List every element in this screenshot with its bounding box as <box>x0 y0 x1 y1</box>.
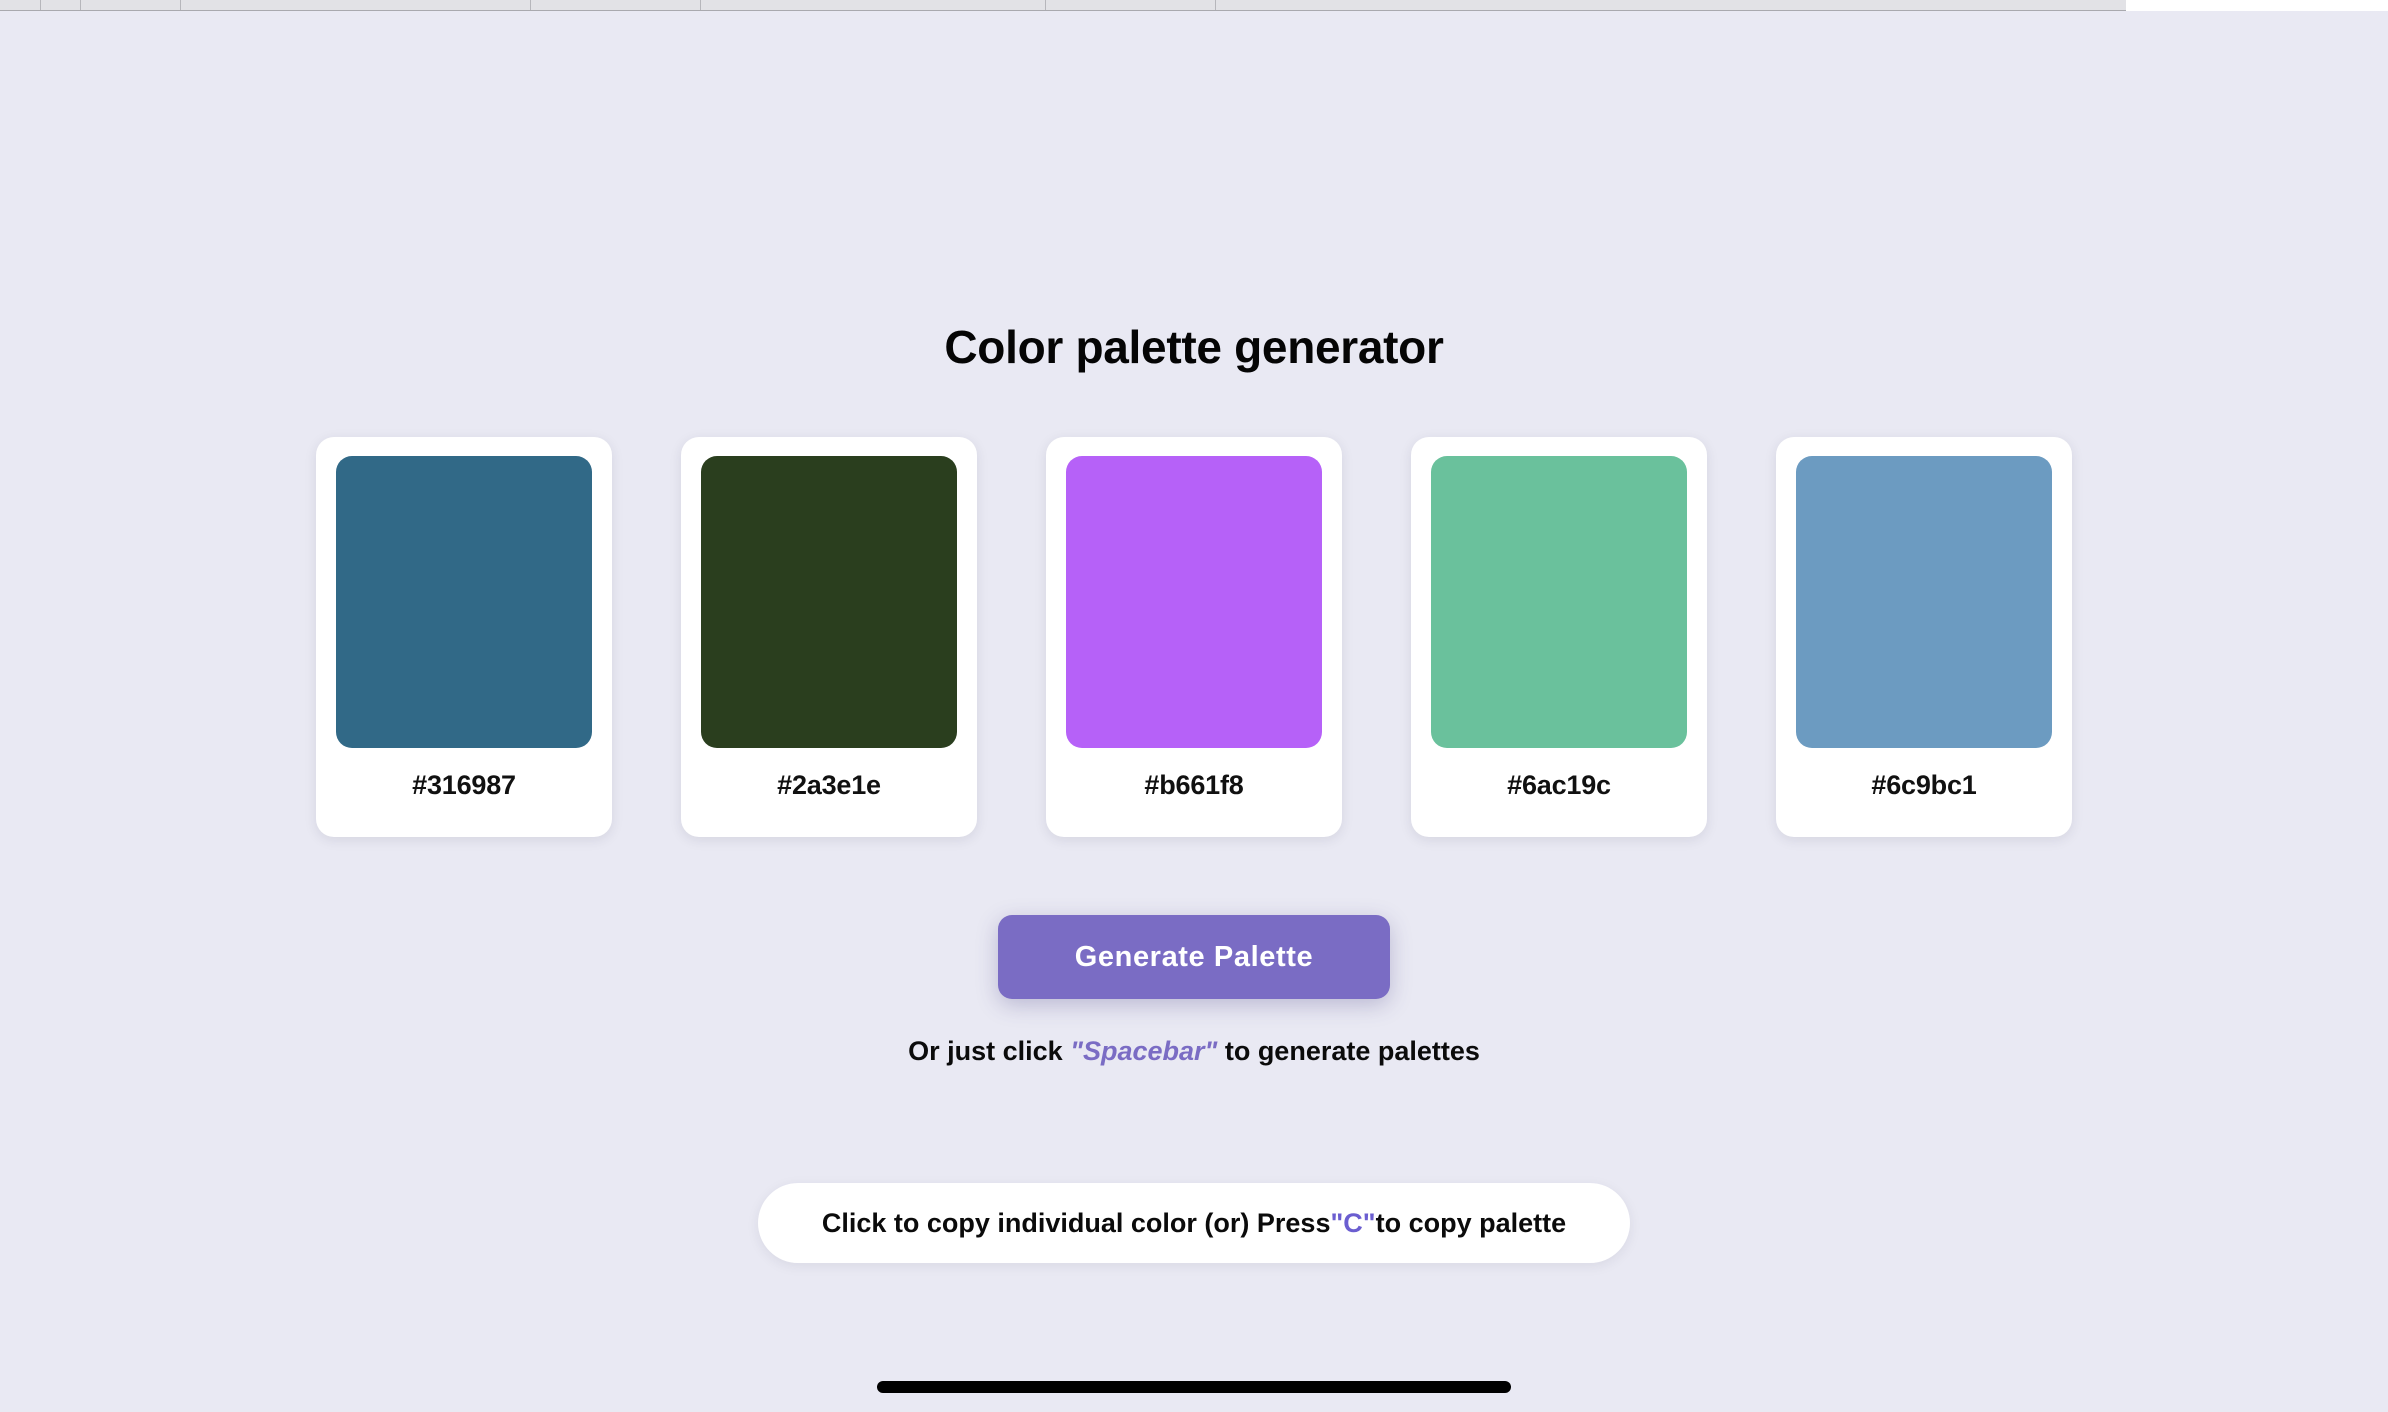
page-title: Color palette generator <box>0 320 2388 374</box>
color-hex-label: #6ac19c <box>1411 770 1707 801</box>
generate-palette-button[interactable]: Generate Palette <box>998 915 1390 999</box>
color-card[interactable]: #6ac19c <box>1411 437 1707 837</box>
spacebar-hint-prefix: Or just click <box>908 1036 1070 1066</box>
spacebar-hint-suffix: to generate palettes <box>1217 1036 1480 1066</box>
color-swatch[interactable] <box>1431 456 1687 748</box>
tab-divider <box>1215 0 1216 10</box>
copy-hint-pill: Click to copy individual color (or) Pres… <box>758 1183 1630 1263</box>
tab-divider <box>80 0 81 10</box>
color-swatch[interactable] <box>1066 456 1322 748</box>
spacebar-key-label: "Spacebar" <box>1070 1036 1217 1066</box>
tab-divider <box>530 0 531 10</box>
color-swatch[interactable] <box>336 456 592 748</box>
spacebar-hint: Or just click "Spacebar" to generate pal… <box>0 1036 2388 1067</box>
copy-key-label: "C" <box>1330 1208 1375 1239</box>
home-indicator <box>877 1381 1511 1393</box>
tab-divider <box>40 0 41 10</box>
color-hex-label: #316987 <box>316 770 612 801</box>
browser-tab-strip <box>0 0 2388 11</box>
copy-hint-prefix: Click to copy individual color (or) Pres… <box>822 1208 1331 1239</box>
color-swatch[interactable] <box>701 456 957 748</box>
palette-row: #316987 #2a3e1e #b661f8 #6ac19c #6c9bc1 <box>316 437 2072 837</box>
copy-hint-suffix: to copy palette <box>1376 1208 1567 1239</box>
tab-divider <box>180 0 181 10</box>
browser-tab-strip-inner <box>0 0 2126 11</box>
color-card[interactable]: #6c9bc1 <box>1776 437 2072 837</box>
tab-divider <box>1045 0 1046 10</box>
color-swatch[interactable] <box>1796 456 2052 748</box>
app-stage: Color palette generator #316987 #2a3e1e … <box>0 11 2388 1412</box>
color-hex-label: #b661f8 <box>1046 770 1342 801</box>
color-card[interactable]: #b661f8 <box>1046 437 1342 837</box>
color-hex-label: #2a3e1e <box>681 770 977 801</box>
tab-divider <box>700 0 701 10</box>
color-card[interactable]: #316987 <box>316 437 612 837</box>
color-card[interactable]: #2a3e1e <box>681 437 977 837</box>
color-hex-label: #6c9bc1 <box>1776 770 2072 801</box>
